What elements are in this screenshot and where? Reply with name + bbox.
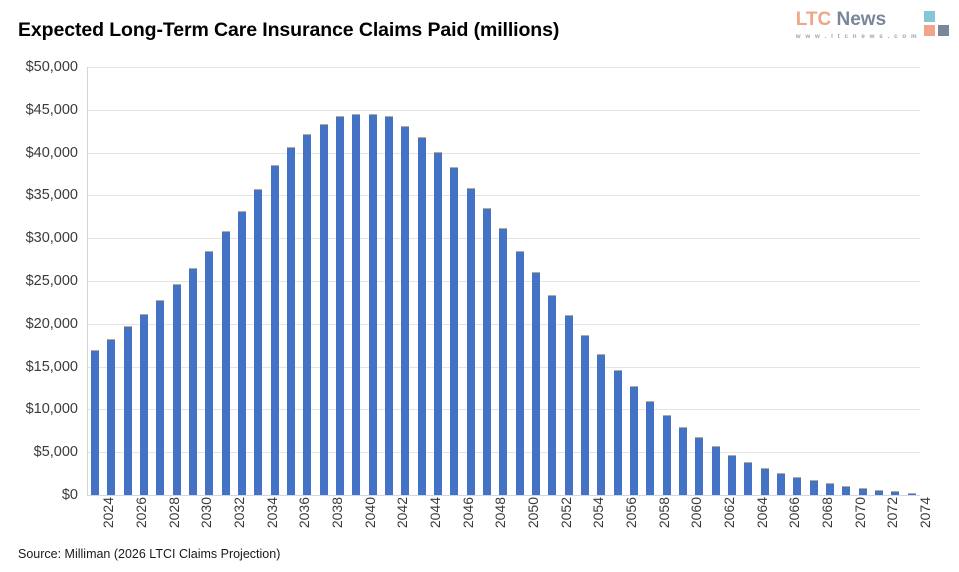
bar-slot	[561, 67, 577, 495]
bar[interactable]	[891, 491, 899, 495]
x-tick-label: 2062	[721, 497, 737, 528]
x-tick-label: 2056	[623, 497, 639, 528]
bar[interactable]	[418, 137, 426, 495]
x-tick-label: 2032	[231, 497, 247, 528]
bar-slot	[822, 67, 838, 495]
bar-slot	[806, 67, 822, 495]
bar-series	[87, 67, 920, 495]
y-tick-label: $45,000	[0, 102, 78, 118]
bar-slot	[691, 67, 707, 495]
x-tick-label: 2064	[754, 497, 770, 528]
logo-url: w w w . l t c n e w s . c o m	[796, 33, 918, 40]
logo-squares-icon	[924, 11, 951, 38]
bar[interactable]	[793, 477, 801, 495]
bar-slot	[250, 67, 266, 495]
bar[interactable]	[352, 114, 360, 495]
x-tick-label: 2044	[427, 497, 443, 528]
bar-slot	[740, 67, 756, 495]
bar-slot	[610, 67, 626, 495]
bar-slot	[871, 67, 887, 495]
bar[interactable]	[189, 268, 197, 495]
bar[interactable]	[646, 401, 654, 495]
bar-slot	[381, 67, 397, 495]
bar-slot	[267, 67, 283, 495]
bar-slot	[773, 67, 789, 495]
x-tick-label: 2028	[166, 497, 182, 528]
x-tick-label: 2034	[264, 497, 280, 528]
bar[interactable]	[222, 231, 230, 495]
bar[interactable]	[254, 189, 262, 495]
bar-slot	[218, 67, 234, 495]
bar[interactable]	[499, 228, 507, 495]
chart-figure: Expected Long-Term Care Insurance Claims…	[0, 0, 959, 572]
bar[interactable]	[630, 386, 638, 495]
bar[interactable]	[761, 468, 769, 495]
bar[interactable]	[173, 284, 181, 495]
bar[interactable]	[679, 427, 687, 495]
bar[interactable]	[483, 208, 491, 495]
x-tick-label: 2066	[786, 497, 802, 528]
bar-slot	[577, 67, 593, 495]
bar-slot	[757, 67, 773, 495]
logo-brand-primary: LTC	[796, 9, 832, 30]
bar-slot	[593, 67, 609, 495]
bar[interactable]	[320, 124, 328, 496]
bar[interactable]	[826, 483, 834, 495]
y-tick-label: $40,000	[0, 145, 78, 161]
x-tick-label: 2042	[394, 497, 410, 528]
bar[interactable]	[91, 350, 99, 495]
bar[interactable]	[287, 147, 295, 495]
bar[interactable]	[516, 251, 524, 495]
bar-slot	[185, 67, 201, 495]
bar-slot	[430, 67, 446, 495]
bar[interactable]	[859, 488, 867, 495]
bar-slot	[675, 67, 691, 495]
y-tick-label: $5,000	[0, 444, 78, 460]
page-title: Expected Long-Term Care Insurance Claims…	[18, 19, 559, 42]
bar-slot	[789, 67, 805, 495]
bar-slot	[103, 67, 119, 495]
y-tick-label: $50,000	[0, 59, 78, 75]
bar[interactable]	[728, 455, 736, 495]
logo-square-salmon-icon	[924, 25, 935, 36]
bar-slot	[887, 67, 903, 495]
x-tick-label: 2060	[688, 497, 704, 528]
bar-slot	[528, 67, 544, 495]
bar-slot	[414, 67, 430, 495]
bar-slot	[365, 67, 381, 495]
bar[interactable]	[385, 116, 393, 495]
bar-slot	[642, 67, 658, 495]
logo-title: LTC News	[796, 10, 886, 29]
bar[interactable]	[565, 315, 573, 495]
y-tick-label: $20,000	[0, 316, 78, 332]
y-tick-label: $25,000	[0, 273, 78, 289]
bar[interactable]	[663, 415, 671, 495]
x-tick-label: 2024	[100, 497, 116, 528]
bar-slot	[201, 67, 217, 495]
logo-square-slate-icon	[938, 25, 949, 36]
bar-slot	[136, 67, 152, 495]
bar[interactable]	[614, 370, 622, 495]
bar-slot	[544, 67, 560, 495]
x-tick-label: 2026	[133, 497, 149, 528]
bar-slot	[446, 67, 462, 495]
bar-slot	[904, 67, 920, 495]
logo-wordmark: LTC News w w w . l t c n e w s . c o m	[796, 10, 918, 40]
bar[interactable]	[908, 493, 916, 495]
bar[interactable]	[205, 251, 213, 495]
bar[interactable]	[695, 437, 703, 495]
logo-square-teal-icon	[924, 11, 935, 22]
bar[interactable]	[401, 126, 409, 495]
x-axis-line	[87, 495, 920, 496]
x-tick-label: 2036	[296, 497, 312, 528]
bar[interactable]	[777, 473, 785, 495]
bar[interactable]	[712, 446, 720, 495]
x-tick-label: 2038	[329, 497, 345, 528]
source-note: Source: Milliman (2026 LTCI Claims Proje…	[18, 547, 280, 561]
bar[interactable]	[467, 188, 475, 495]
bar[interactable]	[369, 114, 377, 495]
bar-slot	[512, 67, 528, 495]
bar[interactable]	[107, 339, 115, 495]
bar-slot	[299, 67, 315, 495]
x-tick-label: 2030	[198, 497, 214, 528]
bar[interactable]	[744, 462, 752, 495]
x-tick-label: 2040	[362, 497, 378, 528]
bar-slot	[855, 67, 871, 495]
x-tick-label: 2048	[492, 497, 508, 528]
x-tick-label: 2070	[852, 497, 868, 528]
x-tick-label: 2052	[558, 497, 574, 528]
bar[interactable]	[450, 167, 458, 495]
bar[interactable]	[303, 134, 311, 495]
bar-slot	[708, 67, 724, 495]
bar[interactable]	[238, 211, 246, 495]
bar-slot	[838, 67, 854, 495]
bar-slot	[724, 67, 740, 495]
bar[interactable]	[875, 490, 883, 495]
y-tick-label: $0	[0, 487, 78, 503]
bar-slot	[332, 67, 348, 495]
bar-slot	[495, 67, 511, 495]
y-tick-label: $35,000	[0, 187, 78, 203]
ltc-news-logo[interactable]: LTC News w w w . l t c n e w s . c o m	[796, 10, 951, 40]
bar-slot	[234, 67, 250, 495]
x-tick-label: 2068	[819, 497, 835, 528]
x-tick-label: 2072	[884, 497, 900, 528]
x-tick-label: 2046	[460, 497, 476, 528]
x-tick-label: 2050	[525, 497, 541, 528]
bar-slot	[169, 67, 185, 495]
bar[interactable]	[548, 295, 556, 495]
bar[interactable]	[842, 486, 850, 495]
bar[interactable]	[156, 300, 164, 495]
bar-slot	[348, 67, 364, 495]
bar[interactable]	[434, 152, 442, 495]
y-tick-label: $30,000	[0, 230, 78, 246]
bar-slot	[626, 67, 642, 495]
bar-slot	[316, 67, 332, 495]
y-tick-label: $10,000	[0, 401, 78, 417]
bar-slot	[283, 67, 299, 495]
logo-brand-secondary: News	[837, 9, 887, 30]
bar[interactable]	[810, 480, 818, 495]
bar[interactable]	[532, 272, 540, 495]
bar[interactable]	[597, 354, 605, 495]
y-tick-label: $15,000	[0, 359, 78, 375]
bar-slot	[659, 67, 675, 495]
bar[interactable]	[581, 335, 589, 495]
x-tick-label: 2054	[590, 497, 606, 528]
bar-slot	[120, 67, 136, 495]
bar-slot	[479, 67, 495, 495]
y-axis-labels: $0$5,000$10,000$15,000$20,000$25,000$30,…	[0, 0, 80, 572]
bar[interactable]	[124, 326, 132, 495]
bar-slot	[463, 67, 479, 495]
bar[interactable]	[140, 314, 148, 495]
bar-slot	[87, 67, 103, 495]
bar[interactable]	[336, 116, 344, 495]
x-tick-label: 2058	[656, 497, 672, 528]
bar-slot	[397, 67, 413, 495]
x-tick-label: 2074	[917, 497, 933, 528]
bar[interactable]	[271, 165, 279, 495]
bar-slot	[152, 67, 168, 495]
